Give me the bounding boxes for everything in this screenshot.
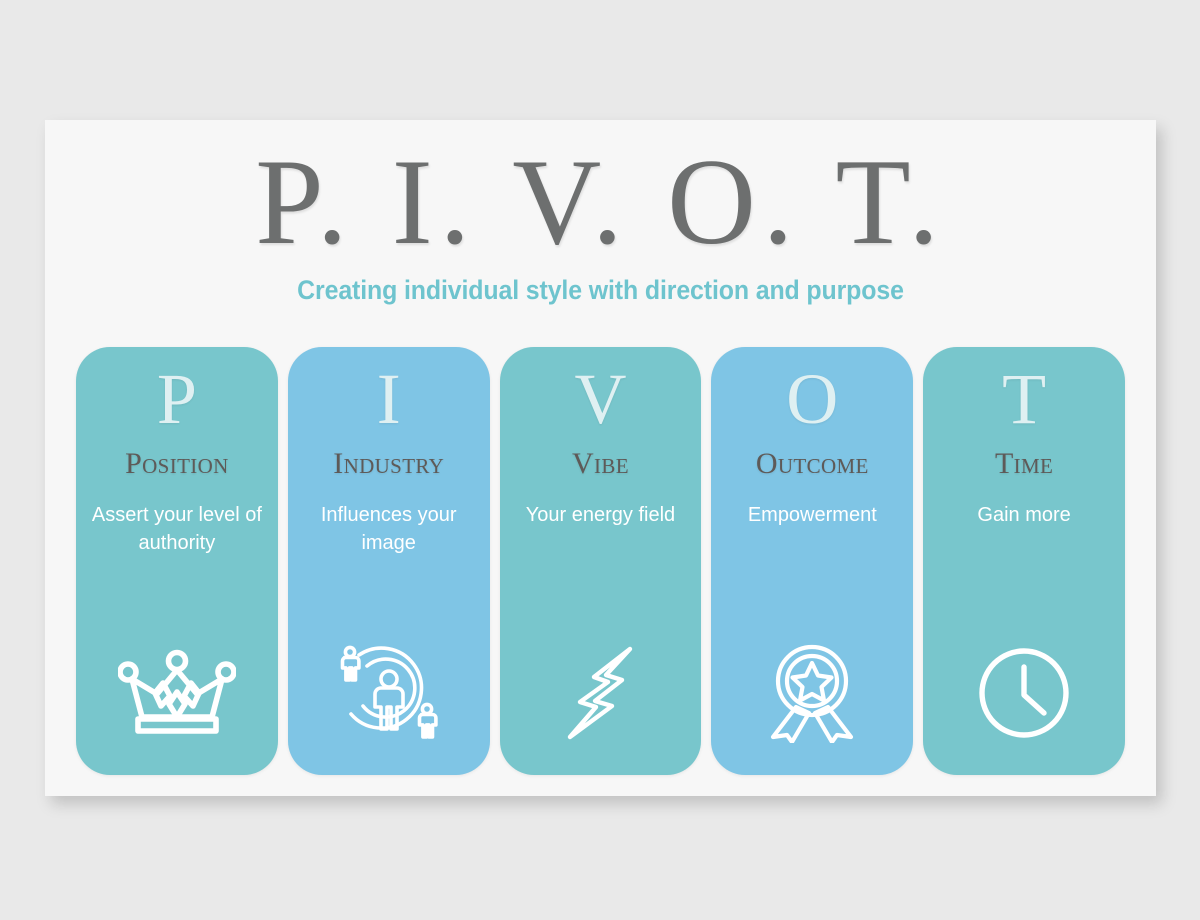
clock-icon xyxy=(923,641,1125,745)
card-description: Influences your image xyxy=(288,501,490,557)
card-description: Your energy field xyxy=(516,501,685,529)
card-title: Industry xyxy=(333,449,444,479)
slide-canvas: P. I. V. O. T. Creating individual style… xyxy=(45,120,1156,796)
cards-row: P Position Assert your level of authorit… xyxy=(76,347,1125,775)
card-big-letter: O xyxy=(786,363,838,445)
card-title: Position xyxy=(125,449,229,479)
card-position[interactable]: P Position Assert your level of authorit… xyxy=(76,347,278,775)
card-time[interactable]: T Time Gain more xyxy=(923,347,1125,775)
card-outcome[interactable]: O Outcome Empowerment xyxy=(711,347,913,775)
page-title: P. I. V. O. T. xyxy=(45,120,1156,263)
card-title: Outcome xyxy=(756,449,869,479)
card-industry[interactable]: I Industry Influences your image xyxy=(288,347,490,775)
card-title: Vibe xyxy=(572,449,629,479)
subtitle: Creating individual style with direction… xyxy=(78,275,1122,306)
award-ribbon-icon xyxy=(711,641,913,745)
card-big-letter: I xyxy=(377,363,401,445)
card-description: Assert your level of authority xyxy=(76,501,278,557)
header: P. I. V. O. T. Creating individual style… xyxy=(45,120,1156,306)
card-big-letter: V xyxy=(574,363,626,445)
card-description: Empowerment xyxy=(738,501,887,529)
lightning-bolt-icon xyxy=(500,641,702,745)
people-network-icon xyxy=(288,641,490,745)
crown-icon xyxy=(76,641,278,745)
card-vibe[interactable]: V Vibe Your energy field xyxy=(500,347,702,775)
card-big-letter: P xyxy=(157,363,197,445)
card-title: Time xyxy=(995,449,1053,479)
card-big-letter: T xyxy=(1002,363,1046,445)
card-description: Gain more xyxy=(967,501,1080,529)
